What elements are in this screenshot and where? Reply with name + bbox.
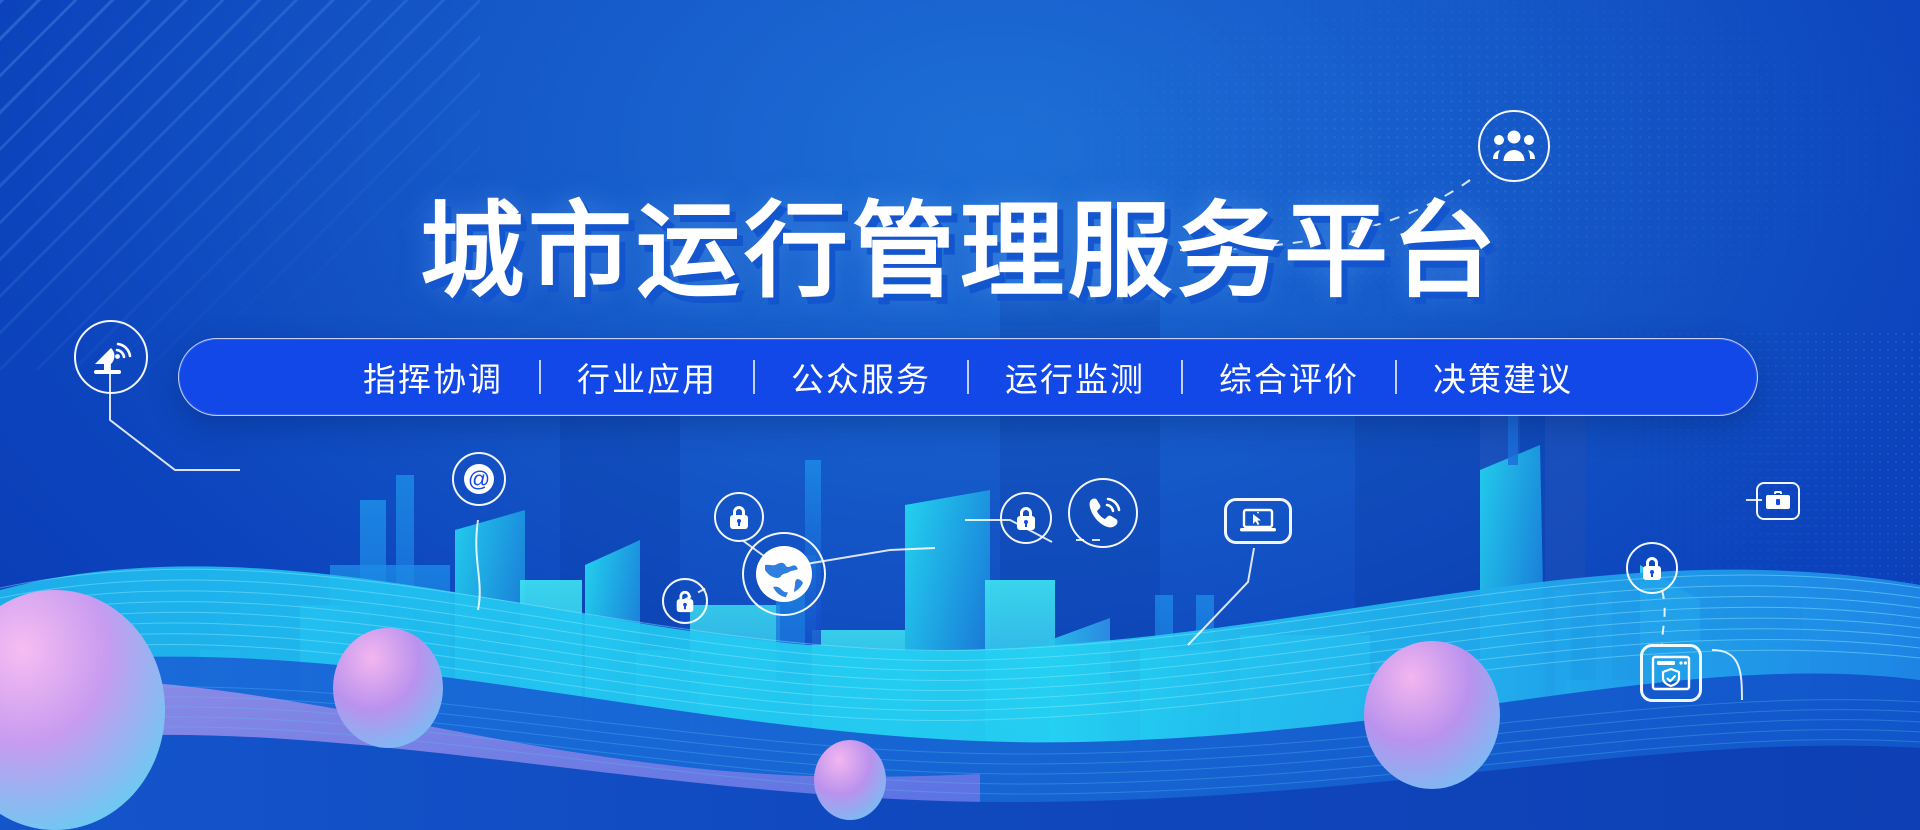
decorative-sphere [333, 628, 443, 748]
ghost-building [1480, 400, 1520, 630]
page-title: 城市运行管理服务平台 [0, 166, 1920, 317]
icon-node-browser-shield[interactable] [1640, 644, 1702, 702]
lock-icon [1000, 492, 1052, 544]
icon-node-laptop[interactable] [1224, 498, 1292, 544]
icon-node-phone[interactable] [1068, 478, 1138, 548]
nav-item-3[interactable]: 公众服务 [755, 353, 967, 401]
decorative-sphere [1364, 641, 1500, 789]
nav-item-6[interactable]: 决策建议 [1397, 353, 1609, 401]
nav-item-4[interactable]: 运行监测 [969, 353, 1181, 401]
icon-node-email[interactable]: @ [452, 452, 506, 506]
globe-icon [742, 532, 826, 616]
icon-node-briefcase[interactable] [1756, 482, 1800, 520]
icon-node-lock-b[interactable] [662, 578, 708, 624]
lock-icon [662, 578, 708, 624]
nav-item-list: 指挥协调行业应用公众服务运行监测综合评价决策建议 [327, 353, 1609, 401]
browser-shield-icon [1640, 644, 1702, 702]
icon-node-lock-d[interactable] [1626, 542, 1678, 594]
decorative-sphere [814, 740, 886, 820]
main-navigation-bar: 指挥协调行业应用公众服务运行监测综合评价决策建议 [178, 338, 1758, 416]
ghost-building [1355, 380, 1585, 680]
nav-item-5[interactable]: 综合评价 [1183, 353, 1395, 401]
icon-node-globe[interactable] [742, 532, 826, 616]
icon-node-satellite[interactable] [74, 320, 148, 394]
decorative-sphere [0, 590, 165, 830]
ghost-building [1545, 400, 1585, 630]
phone-signal-icon [1068, 478, 1138, 548]
icon-node-lock-c[interactable] [1000, 492, 1052, 544]
nav-item-2[interactable]: 行业应用 [541, 353, 753, 401]
hero-banner: @ [0, 0, 1920, 830]
nav-item-1[interactable]: 指挥协调 [327, 353, 539, 401]
laptop-cursor-icon [1224, 498, 1292, 544]
at-sign-icon: @ [452, 452, 506, 506]
lock-icon [1626, 542, 1678, 594]
satellite-dish-icon [74, 320, 148, 394]
briefcase-icon [1756, 482, 1800, 520]
svg-text:@: @ [468, 467, 490, 492]
